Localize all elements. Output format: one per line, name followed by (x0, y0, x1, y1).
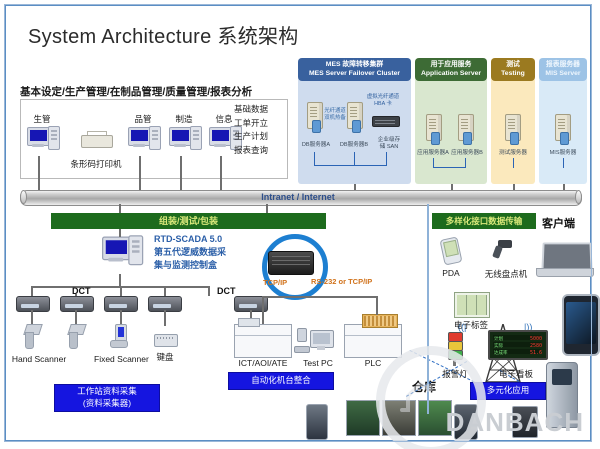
wire (120, 286, 122, 296)
wire (563, 158, 564, 168)
wire (180, 156, 182, 190)
wire (220, 156, 222, 190)
warehouse-photo (346, 400, 380, 436)
watermark-text: DANBACH (446, 407, 584, 438)
smartphone-icon (562, 294, 600, 356)
electronic-tag-icon (454, 292, 490, 318)
server-group-application: 用于应用服务 Application Server 应用服务器A 应用服务器B (415, 58, 487, 184)
server-label-app-a: 应用服务器A (414, 148, 452, 156)
device-label-pda: PDA (432, 268, 470, 278)
pc-icon-shengguan (27, 125, 61, 155)
machine-label-plc: PLC (356, 358, 390, 368)
printer-label: 条形码打印机 (62, 158, 130, 170)
wire (266, 204, 268, 213)
hand-scanner-icon-2 (64, 324, 86, 350)
server-group-testing: 测试 Testing 测试服务器 (491, 58, 535, 184)
wire (314, 165, 387, 166)
workstation-collection-box: 工作站资料采集(资料采集器) (54, 384, 160, 412)
server-icon-db-a (306, 102, 323, 132)
san-label: 企业级存储 SAN (372, 137, 406, 151)
server-group-header-mis: 报表服务器 MIS Server (539, 58, 587, 81)
node-label-shengguan: 生管 (20, 113, 64, 125)
automation-integration-box: 自动化机台整合 (228, 372, 334, 390)
system-architecture-diagram: System Architecture 系统架构 基本设定/生产管理/在制品管理… (0, 0, 600, 449)
wire (513, 158, 514, 168)
server-group-header-app: 用于应用服务 Application Server (415, 58, 487, 81)
device-label-electronic-tag: 电子标签 (448, 319, 494, 331)
machine-label-test-pc: Test PC (294, 358, 342, 368)
test-pc-monitor (310, 330, 334, 352)
hand-scanner-icon (20, 324, 42, 350)
scada-description: RTD-SCADA 5.0第五代逻威数据采集与监测控制盒 (154, 233, 264, 272)
machine-label-ict: ICT/AOI/ATE (228, 358, 298, 368)
board-row-0-name: 计划 (494, 336, 503, 342)
wire (354, 152, 355, 166)
wire (164, 286, 166, 296)
network-bar-label: Intranet / Internet (6, 192, 590, 202)
wire (31, 286, 33, 296)
device-label-kanban: 电子看板 (492, 368, 540, 380)
wire (386, 152, 387, 166)
server-label-db-b: DB服务器B (336, 140, 372, 148)
wire (314, 152, 315, 166)
header-en: Testing (501, 70, 525, 77)
pc-icon-zhizao (169, 125, 203, 155)
banner-assembly-test-pack: 组装/测试/包装 (51, 213, 326, 229)
board-row-2-name: 达成率 (494, 350, 508, 356)
microscope-icon (294, 328, 308, 352)
link-note: 光纤通道双机热备 (322, 108, 348, 122)
page-title: System Architecture 系统架构 (28, 20, 299, 49)
server-group-mis: 报表服务器 MIS Server MIS服务器 (539, 58, 587, 184)
wire (139, 156, 141, 190)
wire (208, 286, 210, 296)
wire (119, 229, 121, 237)
wire (38, 156, 40, 190)
server-icon-mis (554, 114, 571, 144)
server-label-test: 测试服务器 (493, 148, 533, 156)
hba-note: 虚拟光纤通道HBA 卡 (360, 94, 406, 108)
client-section-title: 客户端 (542, 215, 575, 231)
server-label-mis: MIS服务器 (543, 148, 583, 156)
server-label-db-a: DB服务器A (298, 140, 334, 148)
protocol-label-tcpip: TCP/IP (263, 278, 287, 287)
server-group-mes-cluster: MES 故障转移集群 MES Server Failover Cluster 光… (298, 58, 411, 184)
robot-watermark-icon (398, 378, 438, 412)
barcode-printer-icon (81, 131, 111, 149)
protocol-label-rs232: RS-232 or TCP/IP (311, 277, 372, 286)
server-icon-test (504, 114, 521, 144)
header-en: MIS Server (545, 70, 580, 77)
device-label-hand-scanner: Hand Scanner (8, 354, 70, 364)
wire (262, 296, 378, 298)
laptop-icon (536, 242, 592, 276)
banner-interface-transfer: 多样化接口数据传输 (432, 213, 536, 229)
server-group-header-mes: MES 故障转移集群 MES Server Failover Cluster (298, 58, 411, 81)
wire (164, 310, 166, 326)
scada-pc-icon (102, 234, 145, 272)
device-label-fixed-scanner: Fixed Scanner (94, 354, 146, 365)
server-icon-app-a (425, 114, 442, 144)
device-label-keyboard: 键盘 (148, 351, 182, 363)
pda-icon (439, 236, 462, 265)
wire (376, 296, 378, 315)
wireless-scanner-icon (492, 240, 512, 258)
header-cn: MES 故障转移集群 (326, 61, 383, 68)
header-cn: 用于应用服务 (431, 61, 472, 68)
dct-label-right: DCT (217, 286, 236, 296)
scada-controller-box (268, 251, 314, 275)
plc-module-icon (362, 314, 398, 328)
header-cn: 测试 (506, 61, 520, 68)
pc-icon-pinguan (128, 125, 162, 155)
keyboard-icon (154, 334, 178, 347)
dct-device (60, 296, 94, 312)
server-icon-app-b (457, 114, 474, 144)
wire (119, 274, 121, 286)
device-label-wireless-counter: 无线盘点机 (478, 268, 534, 280)
wire (433, 167, 466, 168)
handheld-terminal-icon (306, 404, 328, 440)
board-row-0-value: 5000 (530, 336, 542, 342)
dct-device (16, 296, 50, 312)
header-en: MES Server Failover Cluster (309, 70, 400, 77)
board-row-2-value: 51.6 (530, 350, 542, 356)
board-row-1-name: 实际 (494, 343, 503, 349)
diagram-frame: System Architecture 系统架构 基本设定/生产管理/在制品管理… (4, 4, 592, 442)
san-storage-icon (372, 116, 400, 127)
server-group-header-test: 测试 Testing (491, 58, 535, 81)
electronic-kanban-icon: 计划 5000 实际 2580 达成率 51.6 (488, 330, 548, 360)
board-row-1-value: 2580 (530, 343, 542, 349)
wire (262, 296, 264, 324)
node-label-zhizao: 制造 (162, 113, 206, 125)
fixed-scanner-icon (109, 324, 131, 350)
node-label-pinguan: 品管 (121, 113, 165, 125)
header-cn: 报表服务器 (546, 61, 580, 68)
header-en: Application Server (421, 70, 481, 77)
wire (119, 204, 121, 213)
server-label-app-b: 应用服务器B (448, 148, 486, 156)
machine-plc (344, 324, 402, 358)
machine-ict-aoi-ate (234, 324, 292, 358)
left-section-header: 基本设定/生产管理/在制品管理/质量管理/报表分析 (20, 84, 252, 99)
